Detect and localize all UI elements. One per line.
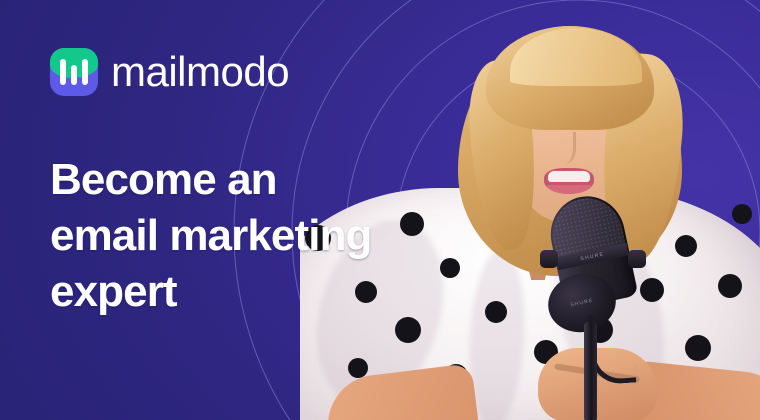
polka-dot [485,301,507,323]
headline-line-3: expert [50,264,450,320]
polka-dot [718,274,742,298]
eye-right [576,116,604,129]
promo-banner: SHURE SHURE mailmodo Become an email mar… [0,0,760,420]
mouth [544,168,594,194]
mic-stand [584,322,597,420]
polka-dot [348,358,368,378]
headline-line-1: Become an [50,152,450,208]
nose [554,132,576,164]
headline-line-2: email marketing [50,208,450,264]
polka-dot [395,317,421,343]
polka-dot [732,204,752,224]
ear-left [494,120,511,146]
polka-dot [685,335,711,361]
brand-logo[interactable]: mailmodo [50,48,289,96]
eye-left [522,116,550,129]
mic-yoke-left [540,250,558,268]
mic-brand-label: SHURE [580,251,605,262]
brand-wordmark: mailmodo [111,51,289,93]
mic-yoke-right [628,250,646,268]
mic-capsule-label: SHURE [570,298,594,309]
headline: Become an email marketing expert [50,152,450,320]
mailmodo-bars-logo-icon [50,48,98,96]
microphone: SHURE SHURE [532,196,652,420]
ear-right [624,120,641,146]
